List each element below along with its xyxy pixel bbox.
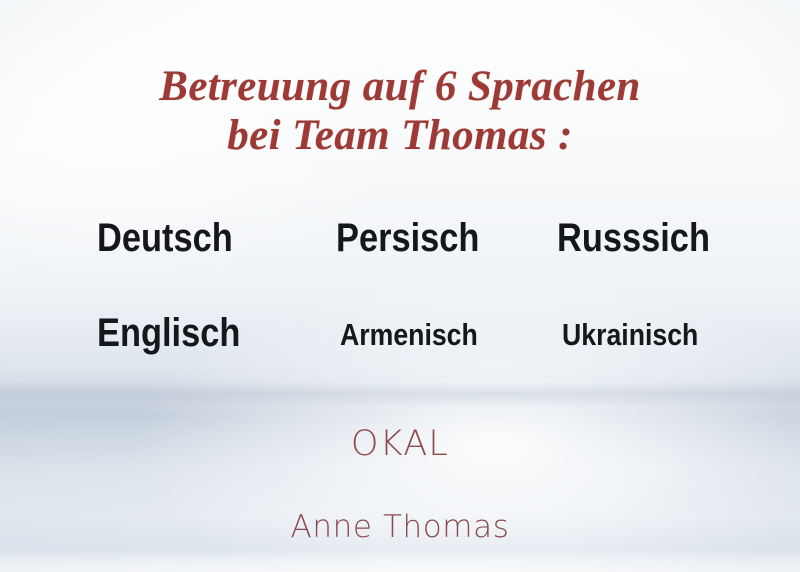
language-item-englisch: Englisch — [97, 311, 240, 355]
title-line-1: Betreuung auf 6 Sprachen — [0, 62, 800, 112]
title-line-2: bei Team Thomas : — [0, 111, 800, 161]
language-item-russsich: Russsich — [557, 216, 710, 260]
language-item-persisch: Persisch — [336, 216, 479, 260]
background-seam-band — [0, 382, 800, 408]
brand-okal: OKAL — [0, 424, 800, 464]
signature-anne-thomas: Anne Thomas — [0, 509, 800, 545]
slide-canvas: Betreuung auf 6 Sprachen bei Team Thomas… — [0, 0, 800, 572]
language-item-armenisch: Armenisch — [340, 317, 478, 353]
language-item-deutsch: Deutsch — [97, 216, 233, 260]
language-item-ukrainisch: Ukrainisch — [562, 317, 698, 353]
